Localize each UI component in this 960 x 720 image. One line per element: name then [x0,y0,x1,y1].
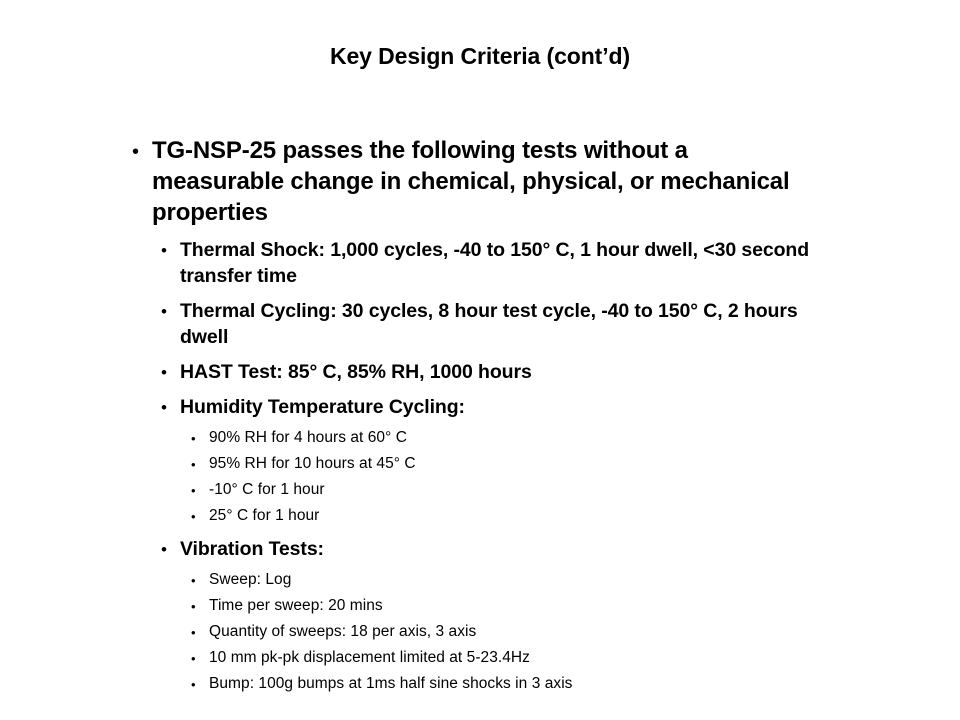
bullet-marker-icon: • [191,600,196,613]
bullet-text: Time per sweep: 20 mins [209,596,860,615]
slide-canvas: Key Design Criteria (cont’d) •TG-NSP-25 … [0,0,960,720]
bullet-marker-icon: • [161,399,167,416]
bullet-text: Sweep: Log [209,570,860,589]
bullet-marker-icon: • [191,432,196,445]
bullet-text: 90% RH for 4 hours at 60° C [209,428,860,447]
bullet-marker-icon: • [191,458,196,471]
bullet-item-level-3: •10 mm pk-pk displacement limited at 5-2… [0,648,960,667]
bullet-marker-icon: • [161,364,167,381]
bullet-text: Thermal Shock: 1,000 cycles, -40 to 150°… [180,237,835,289]
bullet-item-level-3: •Sweep: Log [0,570,960,589]
bullet-item-level-2: •Thermal Cycling: 30 cycles, 8 hour test… [0,298,960,350]
bullet-marker-icon: • [191,574,196,587]
bullet-text: Thermal Cycling: 30 cycles, 8 hour test … [180,298,835,350]
bullet-marker-icon: • [161,541,167,558]
bullet-marker-icon: • [161,242,167,259]
slide-body: •TG-NSP-25 passes the following tests wi… [0,135,960,693]
bullet-text: -10° C for 1 hour [209,480,860,499]
bullet-marker-icon: • [191,484,196,497]
bullet-item-level-3: •Quantity of sweeps: 18 per axis, 3 axis [0,622,960,641]
bullet-item-level-2: •Humidity Temperature Cycling: [0,394,960,420]
bullet-item-level-3: •90% RH for 4 hours at 60° C [0,428,960,447]
bullet-text: TG-NSP-25 passes the following tests wit… [152,135,810,228]
page-title: Key Design Criteria (cont’d) [0,44,960,69]
bullet-item-level-3: •-10° C for 1 hour [0,480,960,499]
bullet-text: Humidity Temperature Cycling: [180,394,835,420]
bullet-marker-icon: • [191,510,196,523]
bullet-marker-icon: • [191,678,196,691]
bullet-item-level-2: •Thermal Shock: 1,000 cycles, -40 to 150… [0,237,960,289]
bullet-text: Vibration Tests: [180,536,835,562]
bullet-text: 10 mm pk-pk displacement limited at 5-23… [209,648,860,667]
bullet-marker-icon: • [161,303,167,320]
bullet-item-level-2: •Vibration Tests: [0,536,960,562]
bullet-marker-icon: • [132,142,139,162]
bullet-item-level-3: •95% RH for 10 hours at 45° C [0,454,960,473]
bullet-text: Quantity of sweeps: 18 per axis, 3 axis [209,622,860,641]
bullet-item-level-3: •Bump: 100g bumps at 1ms half sine shock… [0,674,960,693]
bullet-marker-icon: • [191,652,196,665]
bullet-item-level-3: •Time per sweep: 20 mins [0,596,960,615]
bullet-item-level-3: •25° C for 1 hour [0,506,960,525]
bullet-text: 95% RH for 10 hours at 45° C [209,454,860,473]
bullet-text: Bump: 100g bumps at 1ms half sine shocks… [209,674,860,693]
bullet-item-level-1: •TG-NSP-25 passes the following tests wi… [0,135,960,228]
bullet-item-level-2: •HAST Test: 85° C, 85% RH, 1000 hours [0,359,960,385]
bullet-text: HAST Test: 85° C, 85% RH, 1000 hours [180,359,835,385]
bullet-marker-icon: • [191,626,196,639]
bullet-text: 25° C for 1 hour [209,506,860,525]
